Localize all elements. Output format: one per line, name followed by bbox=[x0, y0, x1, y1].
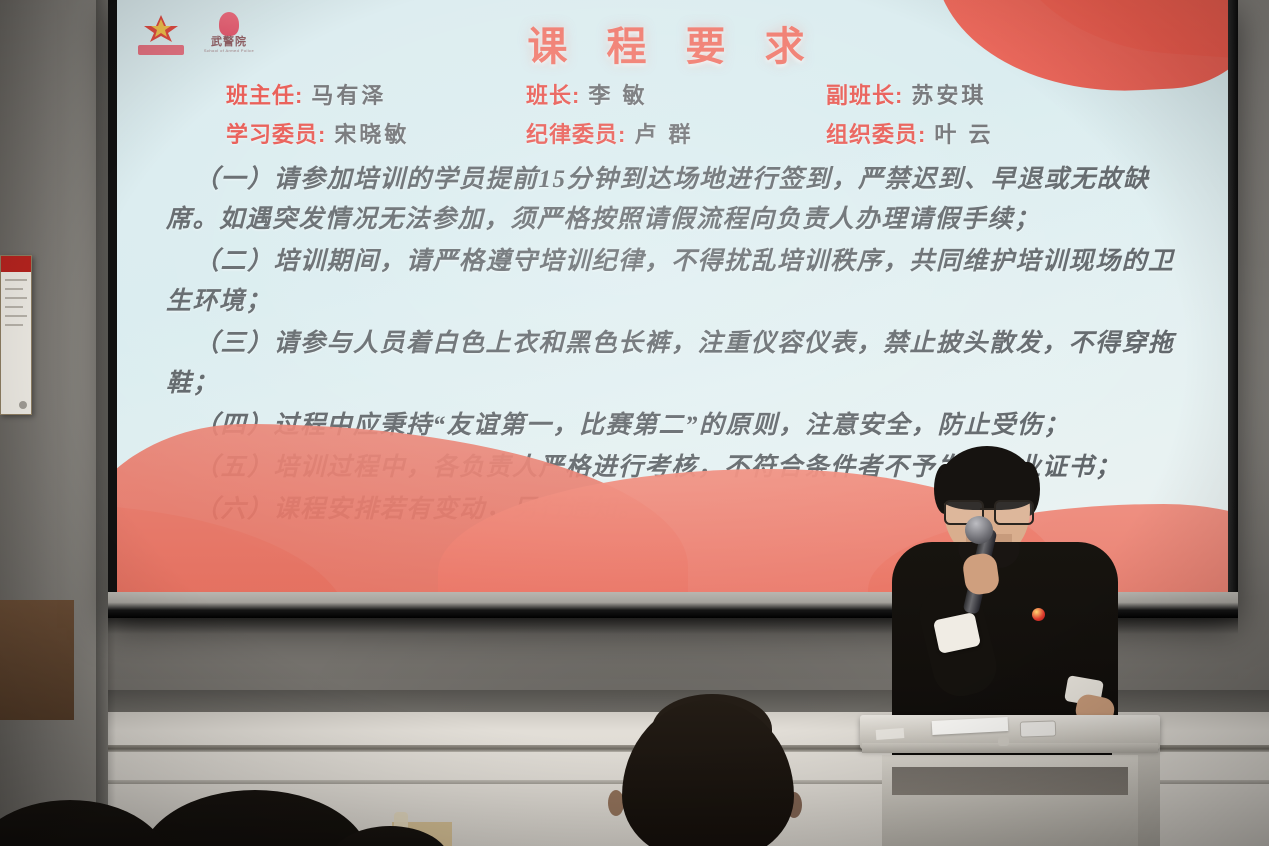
lectern-note-slip bbox=[876, 728, 905, 740]
poster-line bbox=[5, 306, 23, 308]
wall-notice-poster bbox=[0, 255, 32, 415]
lectern bbox=[860, 715, 1160, 846]
roster-value: 苏安琪 bbox=[911, 78, 986, 110]
poster-line bbox=[5, 297, 27, 299]
roster-value: 马有泽 bbox=[311, 78, 386, 110]
roster-label: 副班长: bbox=[826, 78, 903, 110]
slide-title: 课 程 要 求 bbox=[108, 14, 1238, 72]
roster-value: 宋晓敏 bbox=[334, 117, 409, 149]
roster-value: 李 敏 bbox=[588, 78, 647, 110]
roster-cell-class-monitor: 班长: 李 敏 bbox=[526, 78, 826, 110]
lectern-mobile-phone bbox=[1020, 720, 1057, 737]
poster-seal bbox=[19, 401, 27, 409]
roster-label: 学习委员: bbox=[226, 117, 326, 149]
roster-cell-deputy-monitor: 副班长: 苏安琪 bbox=[826, 78, 1126, 110]
roster-row: 班主任: 马有泽 班长: 李 敏 副班长: 苏安琪 bbox=[226, 78, 1146, 110]
roster-row: 学习委员: 宋晓敏 纪律委员: 卢 群 组织委员: 叶 云 bbox=[226, 117, 1146, 149]
poster-line bbox=[5, 315, 27, 317]
lectern-recess bbox=[892, 767, 1128, 795]
poster-header-band bbox=[1, 256, 31, 272]
poster-line bbox=[5, 279, 27, 281]
slide-paragraph-3: （三）请参与人员着白色上衣和黑色长裤，注重仪容仪表，禁止披头散发，不得穿拖鞋； bbox=[166, 324, 1198, 404]
glasses-lens-right bbox=[994, 500, 1034, 525]
class-roster: 班主任: 马有泽 班长: 李 敏 副班长: 苏安琪 学习委员: bbox=[226, 78, 1146, 156]
screen-edge-right bbox=[1228, 0, 1238, 618]
roster-cell-discipline-officer: 纪律委员: 卢 群 bbox=[526, 117, 826, 149]
lapel-badge-icon bbox=[1032, 608, 1045, 621]
screen-edge-left bbox=[108, 0, 117, 618]
roster-label: 组织委员: bbox=[826, 117, 926, 149]
roster-label: 班长: bbox=[526, 78, 580, 110]
classroom-scene: 武警院 School of Armed Police 课 程 要 求 班主任: … bbox=[0, 0, 1269, 846]
roster-cell-organization-officer: 组织委员: 叶 云 bbox=[826, 117, 1126, 149]
lectern-small-object bbox=[998, 737, 1009, 746]
lectern-top-edge bbox=[862, 743, 1158, 753]
slide-paragraph-1: （一）请参加培训的学员提前15分钟到达场地进行签到，严禁迟到、早退或无故缺席。如… bbox=[166, 160, 1198, 240]
poster-line bbox=[5, 324, 23, 326]
poster-line bbox=[5, 288, 23, 290]
slide-paragraph-2: （二）培训期间，请严格遵守培训纪律，不得扰乱培训秩序，共同维护培训现场的卫生环境… bbox=[166, 242, 1198, 322]
roster-cell-head-teacher: 班主任: 马有泽 bbox=[226, 78, 526, 110]
roster-label: 纪律委员: bbox=[526, 117, 626, 149]
roster-label: 班主任: bbox=[226, 78, 303, 110]
floor-cabinet bbox=[0, 600, 74, 720]
roster-cell-study-officer: 学习委员: 宋晓敏 bbox=[226, 117, 526, 149]
roster-value: 卢 群 bbox=[634, 117, 693, 149]
roster-value: 叶 云 bbox=[934, 117, 993, 149]
